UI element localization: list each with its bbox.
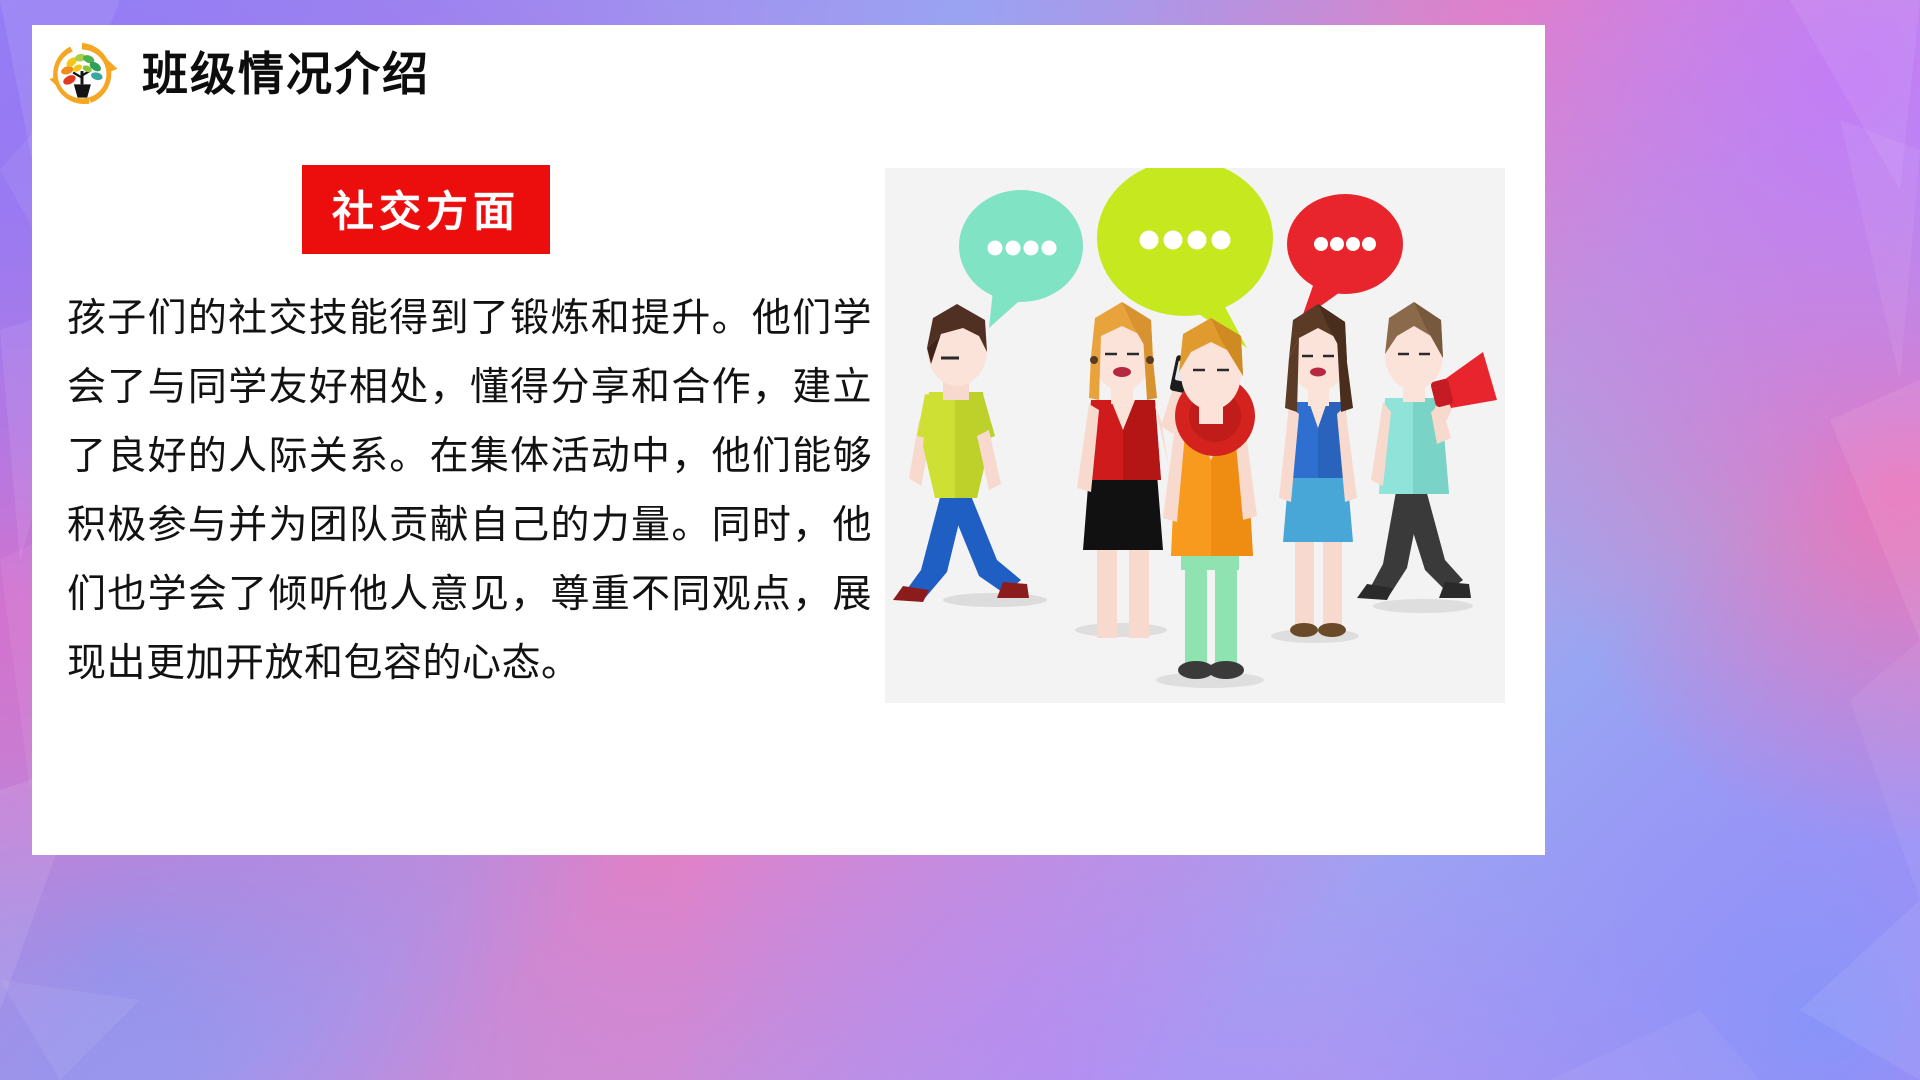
- left-column: 社交方面 孩子们的社交技能得到了锻炼和提升。他们学会了与同学友好相处，懂得分享和…: [67, 165, 907, 698]
- page-title: 班级情况介绍: [142, 51, 430, 97]
- slide-background: 班级情况介绍 社交方面 孩子们的社交技能得到了锻炼和提升。他们学会了与同学友好相…: [0, 0, 1920, 1080]
- content-card: 班级情况介绍 社交方面 孩子们的社交技能得到了锻炼和提升。他们学会了与同学友好相…: [32, 25, 1545, 855]
- section-badge: 社交方面: [302, 165, 550, 254]
- slide-header: 班级情况介绍: [44, 37, 430, 111]
- people-communicating-illustration: [885, 168, 1505, 703]
- tree-recycle-logo-icon: [44, 37, 120, 111]
- body-paragraph: 孩子们的社交技能得到了锻炼和提升。他们学会了与同学友好相处，懂得分享和合作，建立…: [67, 284, 872, 698]
